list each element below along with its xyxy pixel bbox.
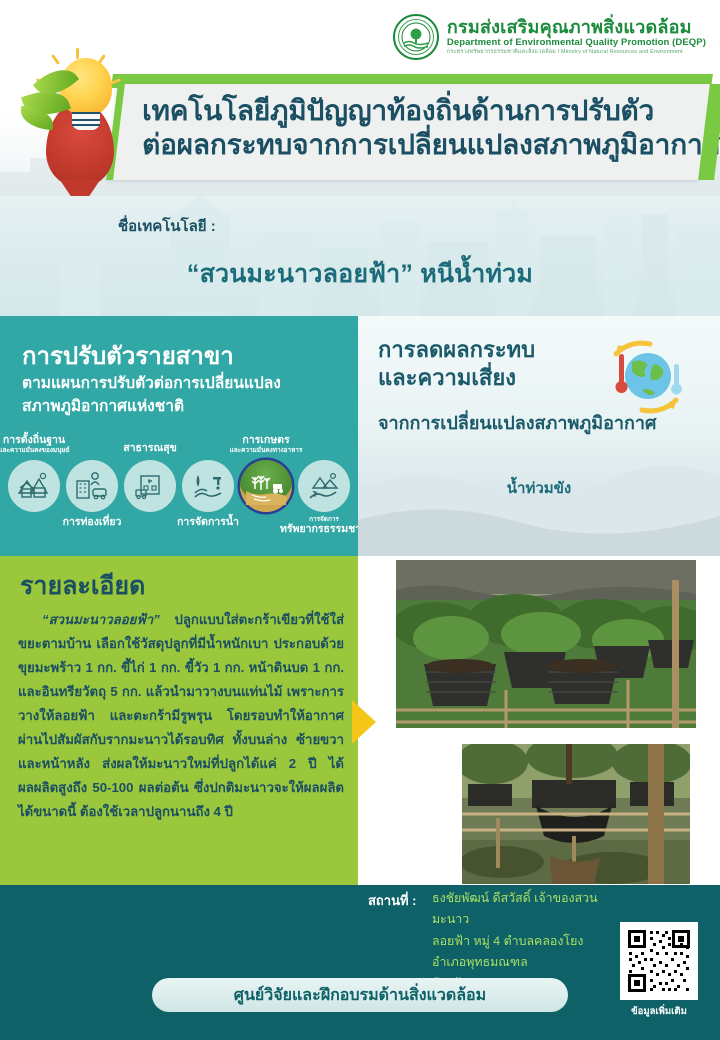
sector-label: การจัดการน้ำ xyxy=(143,516,273,528)
location-label: สถานที่ : xyxy=(368,890,417,911)
water-management-icon xyxy=(182,460,234,512)
address-line: อำเภอพุทธมณฑล xyxy=(432,952,612,973)
org-name-th: กรมส่งเสริมคุณภาพสิ่งแวดล้อม xyxy=(447,18,706,37)
details-title: รายละเอียด xyxy=(20,566,145,606)
main-title-line1: เทคโนโลยีภูมิปัญญาท้องถิ่นด้านการปรับตัว xyxy=(142,94,679,128)
lime-garden-baskets-photo xyxy=(396,560,696,728)
bulb-base-shape xyxy=(72,112,100,130)
sector-label: การเกษตร xyxy=(201,434,331,446)
sector-item-settlement[interactable]: การตั้งถิ่นฐาน และความมั่นคงของมนุษย์ xyxy=(6,460,62,512)
sector-sublabel: และความมั่นคงทางอาหาร xyxy=(201,447,331,454)
details-text: ปลูกแบบใส่ตะกร้าเขียวที่ใช้ใส่ขยะตามบ้าน… xyxy=(18,612,344,819)
sector-label: การท่องเที่ยว xyxy=(27,516,157,528)
hospital-health-icon xyxy=(124,460,176,512)
qr-caption: ข้อมูลเพิ่มเติม xyxy=(620,1004,698,1019)
village-settlement-icon xyxy=(8,460,60,512)
hazard-label: น้ำท่วมขัง xyxy=(358,476,720,500)
adaptation-subtitle: ตามแผนการปรับตัวต่อการเปลี่ยนแปลง สภาพภู… xyxy=(22,372,342,419)
sector-item-agriculture[interactable]: การเกษตร และความมั่นคงทางอาหาร xyxy=(238,460,294,512)
footer-center-name: ศูนย์วิจัยและฝึกอบรมด้านสิ่งแวดล้อม xyxy=(234,983,486,1008)
sector-label: สาธารณสุข xyxy=(85,442,215,454)
location-footer-band xyxy=(0,885,720,1040)
mitigation-title-line1: การลดผลกระทบ xyxy=(378,336,535,364)
adaptation-panel: การปรับตัวรายสาขา ตามแผนการปรับตัวต่อการ… xyxy=(0,316,358,556)
adaptation-title: การปรับตัวรายสาขา xyxy=(22,336,234,375)
technology-value: “สวนมะนาวลอยฟ้า” หนีน้ำท่วม xyxy=(0,254,720,294)
technology-label: ชื่อเทคโนโลยี : xyxy=(118,214,216,238)
main-title-line2: ต่อผลกระทบจากการเปลี่ยนแปลงสภาพภูมิอากาศ xyxy=(142,128,679,162)
org-name-en: Department of Environmental Quality Prom… xyxy=(447,38,706,48)
sector-item-tourism[interactable]: การท่องเที่ยว xyxy=(64,460,120,512)
footer-center-pill[interactable]: ศูนย์วิจัยและฝึกอบรมด้านสิ่งแวดล้อม xyxy=(152,978,568,1012)
sector-item-water[interactable]: การจัดการน้ำ xyxy=(180,460,236,512)
address-line: ธงชัยพัฒน์ ดีสวัสดิ์ เจ้าของสวนมะนาว xyxy=(432,888,612,931)
tourism-city-icon xyxy=(66,460,118,512)
sector-icon-row: การตั้งถิ่นฐาน และความมั่นคงของมนุษย์ xyxy=(0,432,358,540)
header-band: เทคโนโลยีภูมิปัญญาท้องถิ่นด้านการปรับตัว… xyxy=(0,0,720,196)
agriculture-food-icon xyxy=(240,460,292,512)
main-title-plate: เทคโนโลยีภูมิปัญญาท้องถิ่นด้านการปรับตัว… xyxy=(106,84,710,180)
sector-sublabel: การจัดการ xyxy=(259,516,358,523)
details-panel: รายละเอียด “สวนมะนาวลอยฟ้า” ปลูกแบบใส่ตะ… xyxy=(0,556,358,901)
mitigation-title-line2: และความเสี่ยง xyxy=(378,364,535,392)
floating-basket-closeup-photo xyxy=(462,744,690,884)
globe-thermometer-icon xyxy=(598,338,694,418)
details-highlight: “สวนมะนาวลอยฟ้า” xyxy=(42,612,160,627)
sector-item-health[interactable]: สาธารณสุข xyxy=(122,460,178,512)
natural-resources-icon xyxy=(298,460,350,512)
lightbulb-leaf-map-pin-icon xyxy=(18,50,138,196)
sector-label: ทรัพยากรธรรมชาติ xyxy=(259,523,358,535)
poster-root: เทคโนโลยีภูมิปัญญาท้องถิ่นด้านการปรับตัว… xyxy=(0,0,720,1040)
arrow-pointer-icon xyxy=(352,700,376,744)
org-ministry: กระทรวงทรัพยากรธรรมชาติและสิ่งแวดล้อม I … xyxy=(447,50,706,56)
technology-name-band: ชื่อเทคโนโลยี : “สวนมะนาวลอยฟ้า” หนีน้ำท… xyxy=(0,196,720,316)
sector-item-natural-resources[interactable]: การจัดการ ทรัพยากรธรรมชาติ xyxy=(296,460,352,512)
mitigation-panel: การลดผลกระทบ และความเสี่ยง จากการเปลี่ยน… xyxy=(358,316,720,556)
address-line: ลอยฟ้า หมู่ 4 ตำบลคลองโยง xyxy=(432,931,612,952)
qr-code-icon[interactable] xyxy=(620,922,698,1000)
deqp-tree-seal-icon xyxy=(393,14,439,60)
details-body: “สวนมะนาวลอยฟ้า” ปลูกแบบใส่ตะกร้าเขียวที… xyxy=(18,608,344,824)
qr-block[interactable]: ข้อมูลเพิ่มเติม xyxy=(620,922,698,1019)
deqp-logo: กรมส่งเสริมคุณภาพสิ่งแวดล้อม Department … xyxy=(393,14,706,60)
